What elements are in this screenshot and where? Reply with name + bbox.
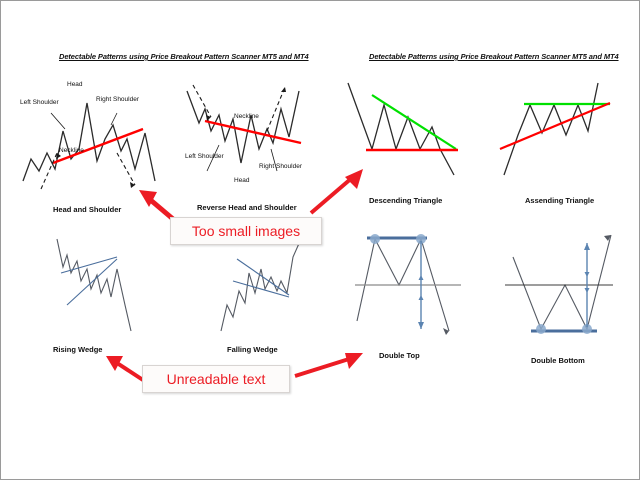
- hs-neckline-label: Neckline: [59, 147, 84, 154]
- chart-assending-triangle: [496, 79, 621, 179]
- arrow-to-rising-wedge: [106, 356, 143, 380]
- callout-too-small-images-text: Too small images: [192, 223, 300, 239]
- chart-head-and-shoulder: [13, 73, 173, 193]
- chart-descending-triangle: [344, 79, 469, 179]
- rhs-head-label: Head: [234, 177, 250, 184]
- callout-unreadable-text-text: Unreadable text: [167, 371, 266, 387]
- callout-unreadable-text[interactable]: Unreadable text: [142, 365, 290, 393]
- slide-frame: Detectable Patterns using Price Breakout…: [0, 0, 640, 480]
- pattern-label-reverse-head-and-shoulder: Reverse Head and Shoulder: [197, 203, 297, 212]
- hs-left-shoulder-label: Left Shoulder: [20, 99, 59, 106]
- pattern-label-descending-triangle: Descending Triangle: [369, 196, 442, 205]
- rhs-right-shoulder-label: Right Shoulder: [259, 163, 302, 170]
- pattern-label-falling-wedge: Falling Wedge: [227, 345, 278, 354]
- rhs-neckline-label: Neckline: [234, 113, 259, 120]
- arrow-to-head-and-shoulder: [139, 190, 173, 219]
- pattern-label-rising-wedge: Rising Wedge: [53, 345, 102, 354]
- hs-right-shoulder-label: Right Shoulder: [96, 96, 139, 103]
- arrow-to-double-top: [295, 353, 363, 376]
- chart-double-top: [353, 229, 468, 339]
- chart-rising-wedge: [39, 235, 149, 340]
- chart-falling-wedge: [207, 235, 322, 340]
- pattern-label-double-top: Double Top: [379, 351, 420, 360]
- pattern-label-assending-triangle: Assending Triangle: [525, 196, 594, 205]
- rhs-left-shoulder-label: Left Shoulder: [185, 153, 224, 160]
- right-column-title: Detectable Patterns using Price Breakout…: [369, 52, 619, 61]
- hs-head-label: Head: [67, 81, 83, 88]
- pattern-label-head-and-shoulder: Head and Shoulder: [53, 205, 121, 214]
- chart-double-bottom: [501, 229, 621, 344]
- callout-too-small-images[interactable]: Too small images: [170, 217, 322, 245]
- left-column-title: Detectable Patterns using Price Breakout…: [59, 52, 309, 61]
- pattern-label-double-bottom: Double Bottom: [531, 356, 585, 365]
